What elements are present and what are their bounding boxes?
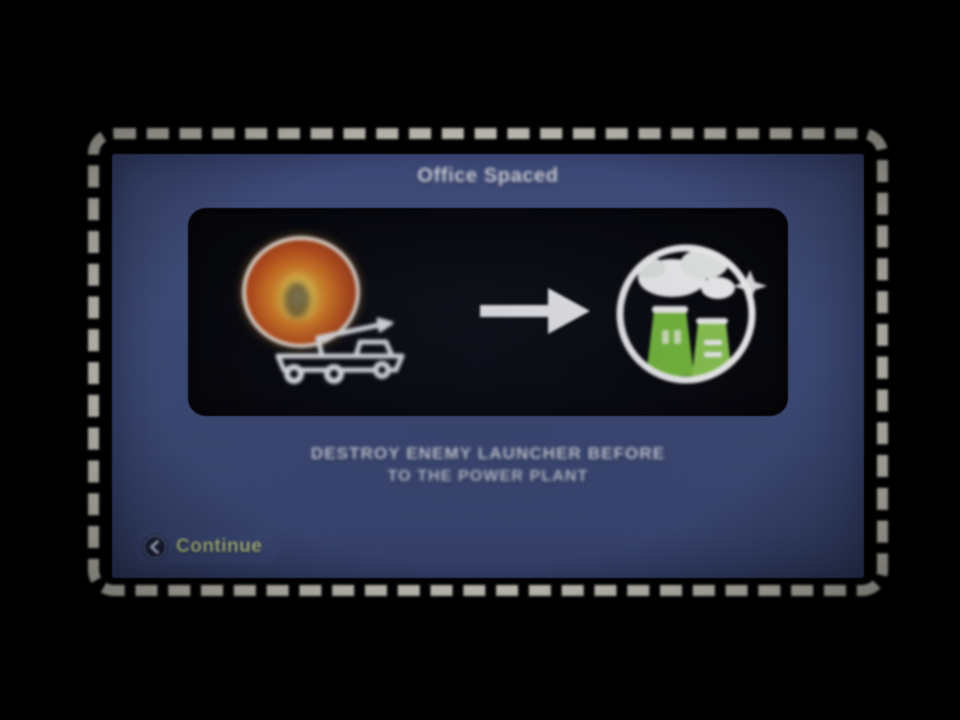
objective-line-2: TO THE POWER PLANT — [136, 465, 840, 488]
vehicle-silhouette-icon — [260, 304, 428, 390]
arrow-right-icon — [478, 280, 596, 342]
mission-briefing-panel: Office Spaced — [112, 154, 864, 578]
objective-line-1: DESTROY ENEMY LAUNCHER BEFORE — [311, 444, 665, 463]
page-title: Office Spaced — [112, 165, 864, 188]
continue-button[interactable]: Continue — [134, 530, 280, 564]
game-screen: Office Spaced — [0, 0, 960, 720]
controller-button-icon — [142, 534, 168, 560]
continue-button-label: Continue — [176, 536, 262, 558]
nuclear-power-plant-icon — [600, 226, 772, 396]
objective-icon-stage — [188, 208, 788, 416]
burning-artillery-icon — [236, 230, 426, 394]
objective-text: DESTROY ENEMY LAUNCHER BEFORE TO THE POW… — [136, 442, 840, 488]
